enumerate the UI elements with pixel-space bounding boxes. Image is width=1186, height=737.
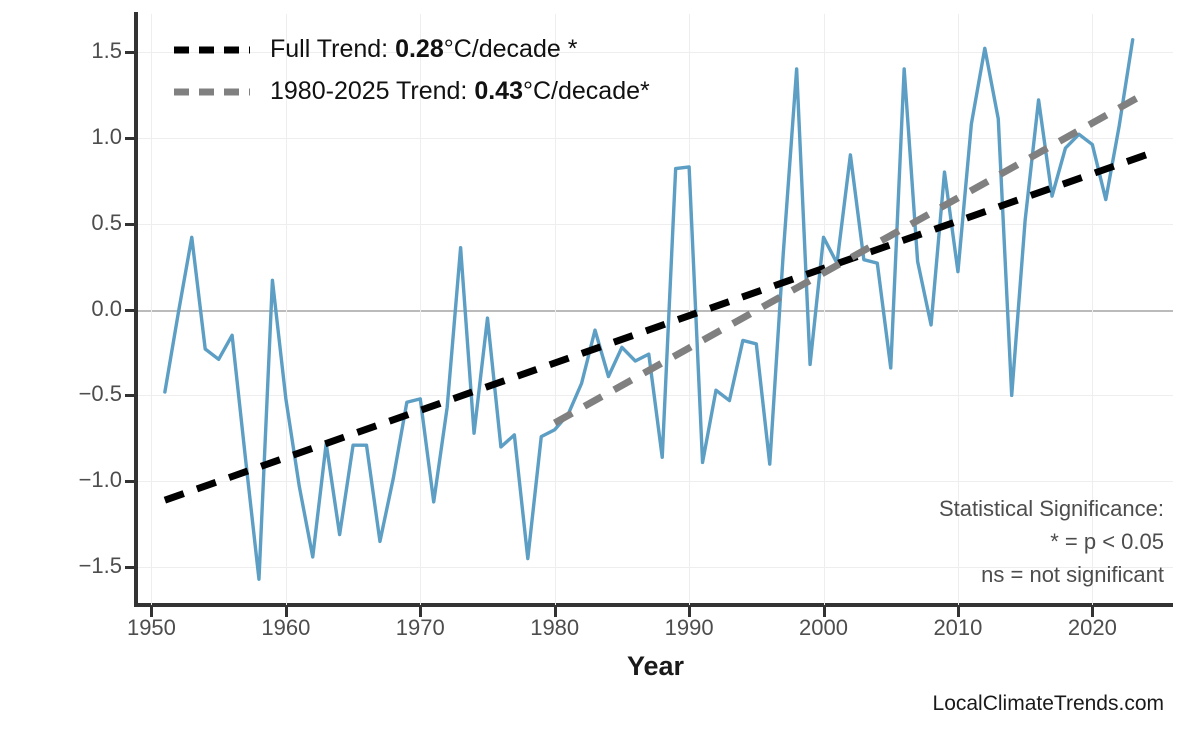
legend-key-recent-trend-icon — [172, 87, 252, 95]
x-axis-title: Year — [138, 648, 1173, 684]
watermark: LocalClimateTrends.com — [933, 692, 1164, 716]
x-tick-label: 2020 — [1068, 615, 1117, 641]
y-tick-label: 0.5 — [30, 210, 122, 236]
climate-anomaly-chart: Temperature Anomaly (°C) Year −1.5−1.0−0… — [0, 0, 1186, 737]
y-tick-label: 1.0 — [30, 124, 122, 150]
y-tick-mark — [125, 137, 135, 140]
x-axis-title-text: Year — [627, 651, 684, 682]
y-tick-label: −1.5 — [30, 553, 122, 579]
x-tick-label: 2000 — [799, 615, 848, 641]
y-tick-label: −1.0 — [30, 467, 122, 493]
x-tick-label: 1970 — [396, 615, 445, 641]
y-tick-label: −0.5 — [30, 381, 122, 407]
significance-note: Statistical Significance: * = p < 0.05 n… — [939, 492, 1164, 591]
legend: Full Trend: 0.28°C/decade * 1980-2025 Tr… — [172, 28, 650, 112]
legend-recent-trend-significance: * — [640, 77, 650, 105]
legend-full-trend-suffix: °C/decade — [444, 35, 561, 63]
legend-item-recent-trend: 1980-2025 Trend: 0.43°C/decade* — [172, 70, 650, 112]
y-tick-mark — [125, 566, 135, 569]
y-tick-mark — [125, 480, 135, 483]
significance-note-line-2: ns = not significant — [939, 558, 1164, 591]
legend-full-trend-prefix: Full Trend: — [270, 35, 395, 63]
legend-label-recent-trend: 1980-2025 Trend: 0.43°C/decade* — [270, 77, 650, 106]
x-tick-label: 1990 — [665, 615, 714, 641]
y-tick-mark — [125, 394, 135, 397]
y-tick-mark — [125, 223, 135, 226]
legend-full-trend-value: 0.28 — [395, 35, 444, 63]
significance-note-line-1: * = p < 0.05 — [939, 525, 1164, 558]
y-tick-label: 1.5 — [30, 38, 122, 64]
full-trend-line — [165, 155, 1146, 500]
y-tick-mark — [125, 309, 135, 312]
y-tick-mark — [125, 51, 135, 54]
y-tick-label: 0.0 — [30, 296, 122, 322]
x-tick-label: 1960 — [261, 615, 310, 641]
legend-full-trend-significance: * — [568, 35, 578, 63]
legend-item-full-trend: Full Trend: 0.28°C/decade * — [172, 28, 650, 70]
x-tick-label: 2010 — [933, 615, 982, 641]
significance-note-title: Statistical Significance: — [939, 492, 1164, 525]
legend-recent-trend-suffix: °C/decade — [523, 77, 640, 105]
legend-recent-trend-prefix: 1980-2025 Trend: — [270, 77, 474, 105]
x-tick-label: 1980 — [530, 615, 579, 641]
legend-key-full-trend-icon — [172, 45, 252, 53]
legend-recent-trend-value: 0.43 — [474, 77, 523, 105]
legend-label-full-trend: Full Trend: 0.28°C/decade * — [270, 35, 577, 64]
x-tick-label: 1950 — [127, 615, 176, 641]
